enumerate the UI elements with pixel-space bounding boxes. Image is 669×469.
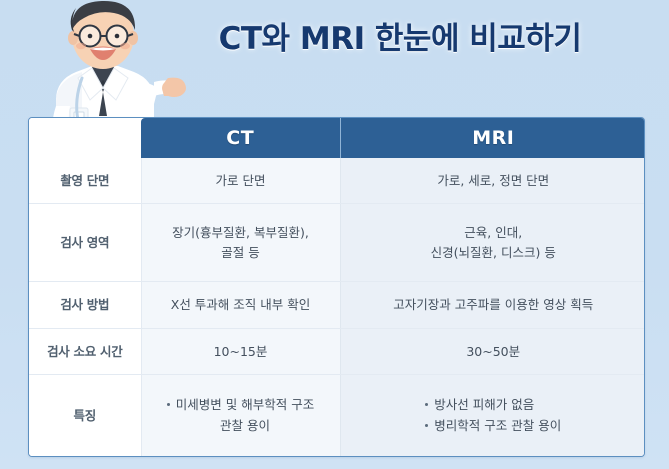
row-label-exam-area: 검사 영역 [29,204,141,282]
cell-line: 장기(흉부질환, 복부질환), [148,223,334,242]
table-header-row: CT MRI [29,118,645,158]
cell-line: 고자기장과 고주파를 이용한 영상 획득 [347,295,641,314]
ct-feature-list: 미세병변 및 해부학적 구조 관찰 용이 [167,395,314,436]
page-title: CT와 MRI 한눈에 비교하기 [160,22,640,56]
cell-mri-exam-method: 고자기장과 고주파를 이용한 영상 획득 [340,282,645,328]
mri-feature-list: 방사선 피해가 없음 병리학적 구조 관찰 용이 [425,395,561,436]
bullet-text: 병리학적 구조 관찰 용이 [434,418,561,433]
cell-mri-features: 방사선 피해가 없음 병리학적 구조 관찰 용이 [340,375,645,456]
header-cell-blank [29,118,141,158]
bullet-text-continued: 관찰 용이 [176,416,314,437]
table-row: 검사 영역 장기(흉부질환, 복부질환), 골절 등 근육, 인대, 신경(뇌질… [29,204,645,282]
cell-line: 골절 등 [148,243,334,262]
table-row: 촬영 단면 가로 단면 가로, 세로, 정면 단면 [29,158,645,204]
row-label-imaging-plane: 촬영 단면 [29,158,141,204]
cell-mri-exam-duration: 30~50분 [340,328,645,374]
cell-line: 가로, 세로, 정면 단면 [347,171,641,190]
infographic-canvas: CT와 MRI 한눈에 비교하기 CT MRI 촬영 단면 가로 단면 [0,0,669,469]
cell-ct-features: 미세병변 및 해부학적 구조 관찰 용이 [141,375,340,456]
bullet-text: 방사선 피해가 없음 [434,397,534,412]
table-head: CT MRI [29,118,645,158]
cell-line: 30~50분 [347,342,641,361]
row-label-features: 특징 [29,375,141,456]
row-label-exam-method: 검사 방법 [29,282,141,328]
comparison-table-container: CT MRI 촬영 단면 가로 단면 가로, 세로, 정면 단면 [28,117,645,457]
cell-line: 신경(뇌질환, 디스크) 등 [347,243,641,262]
cell-line: 10~15분 [148,342,334,361]
cell-line: X선 투과해 조직 내부 확인 [148,295,334,314]
table-body: 촬영 단면 가로 단면 가로, 세로, 정면 단면 검사 영역 [29,158,645,456]
cell-line: 근육, 인대, [347,223,641,242]
list-item: 병리학적 구조 관찰 용이 [425,416,561,437]
header-cell-mri: MRI [340,118,645,158]
bullet-text: 미세병변 및 해부학적 구조 [176,397,314,412]
cell-ct-exam-duration: 10~15분 [141,328,340,374]
cell-mri-exam-area: 근육, 인대, 신경(뇌질환, 디스크) 등 [340,204,645,282]
list-item: 방사선 피해가 없음 [425,395,561,416]
cell-ct-imaging-plane: 가로 단면 [141,158,340,204]
cell-line: 가로 단면 [148,171,334,190]
table-row: 검사 방법 X선 투과해 조직 내부 확인 고자기장과 고주파를 이용한 영상 … [29,282,645,328]
cell-ct-exam-area: 장기(흉부질환, 복부질환), 골절 등 [141,204,340,282]
cell-ct-exam-method: X선 투과해 조직 내부 확인 [141,282,340,328]
cell-mri-imaging-plane: 가로, 세로, 정면 단면 [340,158,645,204]
list-item: 미세병변 및 해부학적 구조 관찰 용이 [167,395,314,436]
row-label-exam-duration: 검사 소요 시간 [29,328,141,374]
header-cell-ct: CT [141,118,340,158]
table-row: 검사 소요 시간 10~15분 30~50분 [29,328,645,374]
table-row: 특징 미세병변 및 해부학적 구조 관찰 용이 방사선 피해가 없음 [29,375,645,456]
ct-mri-comparison-table: CT MRI 촬영 단면 가로 단면 가로, 세로, 정면 단면 [29,118,645,456]
